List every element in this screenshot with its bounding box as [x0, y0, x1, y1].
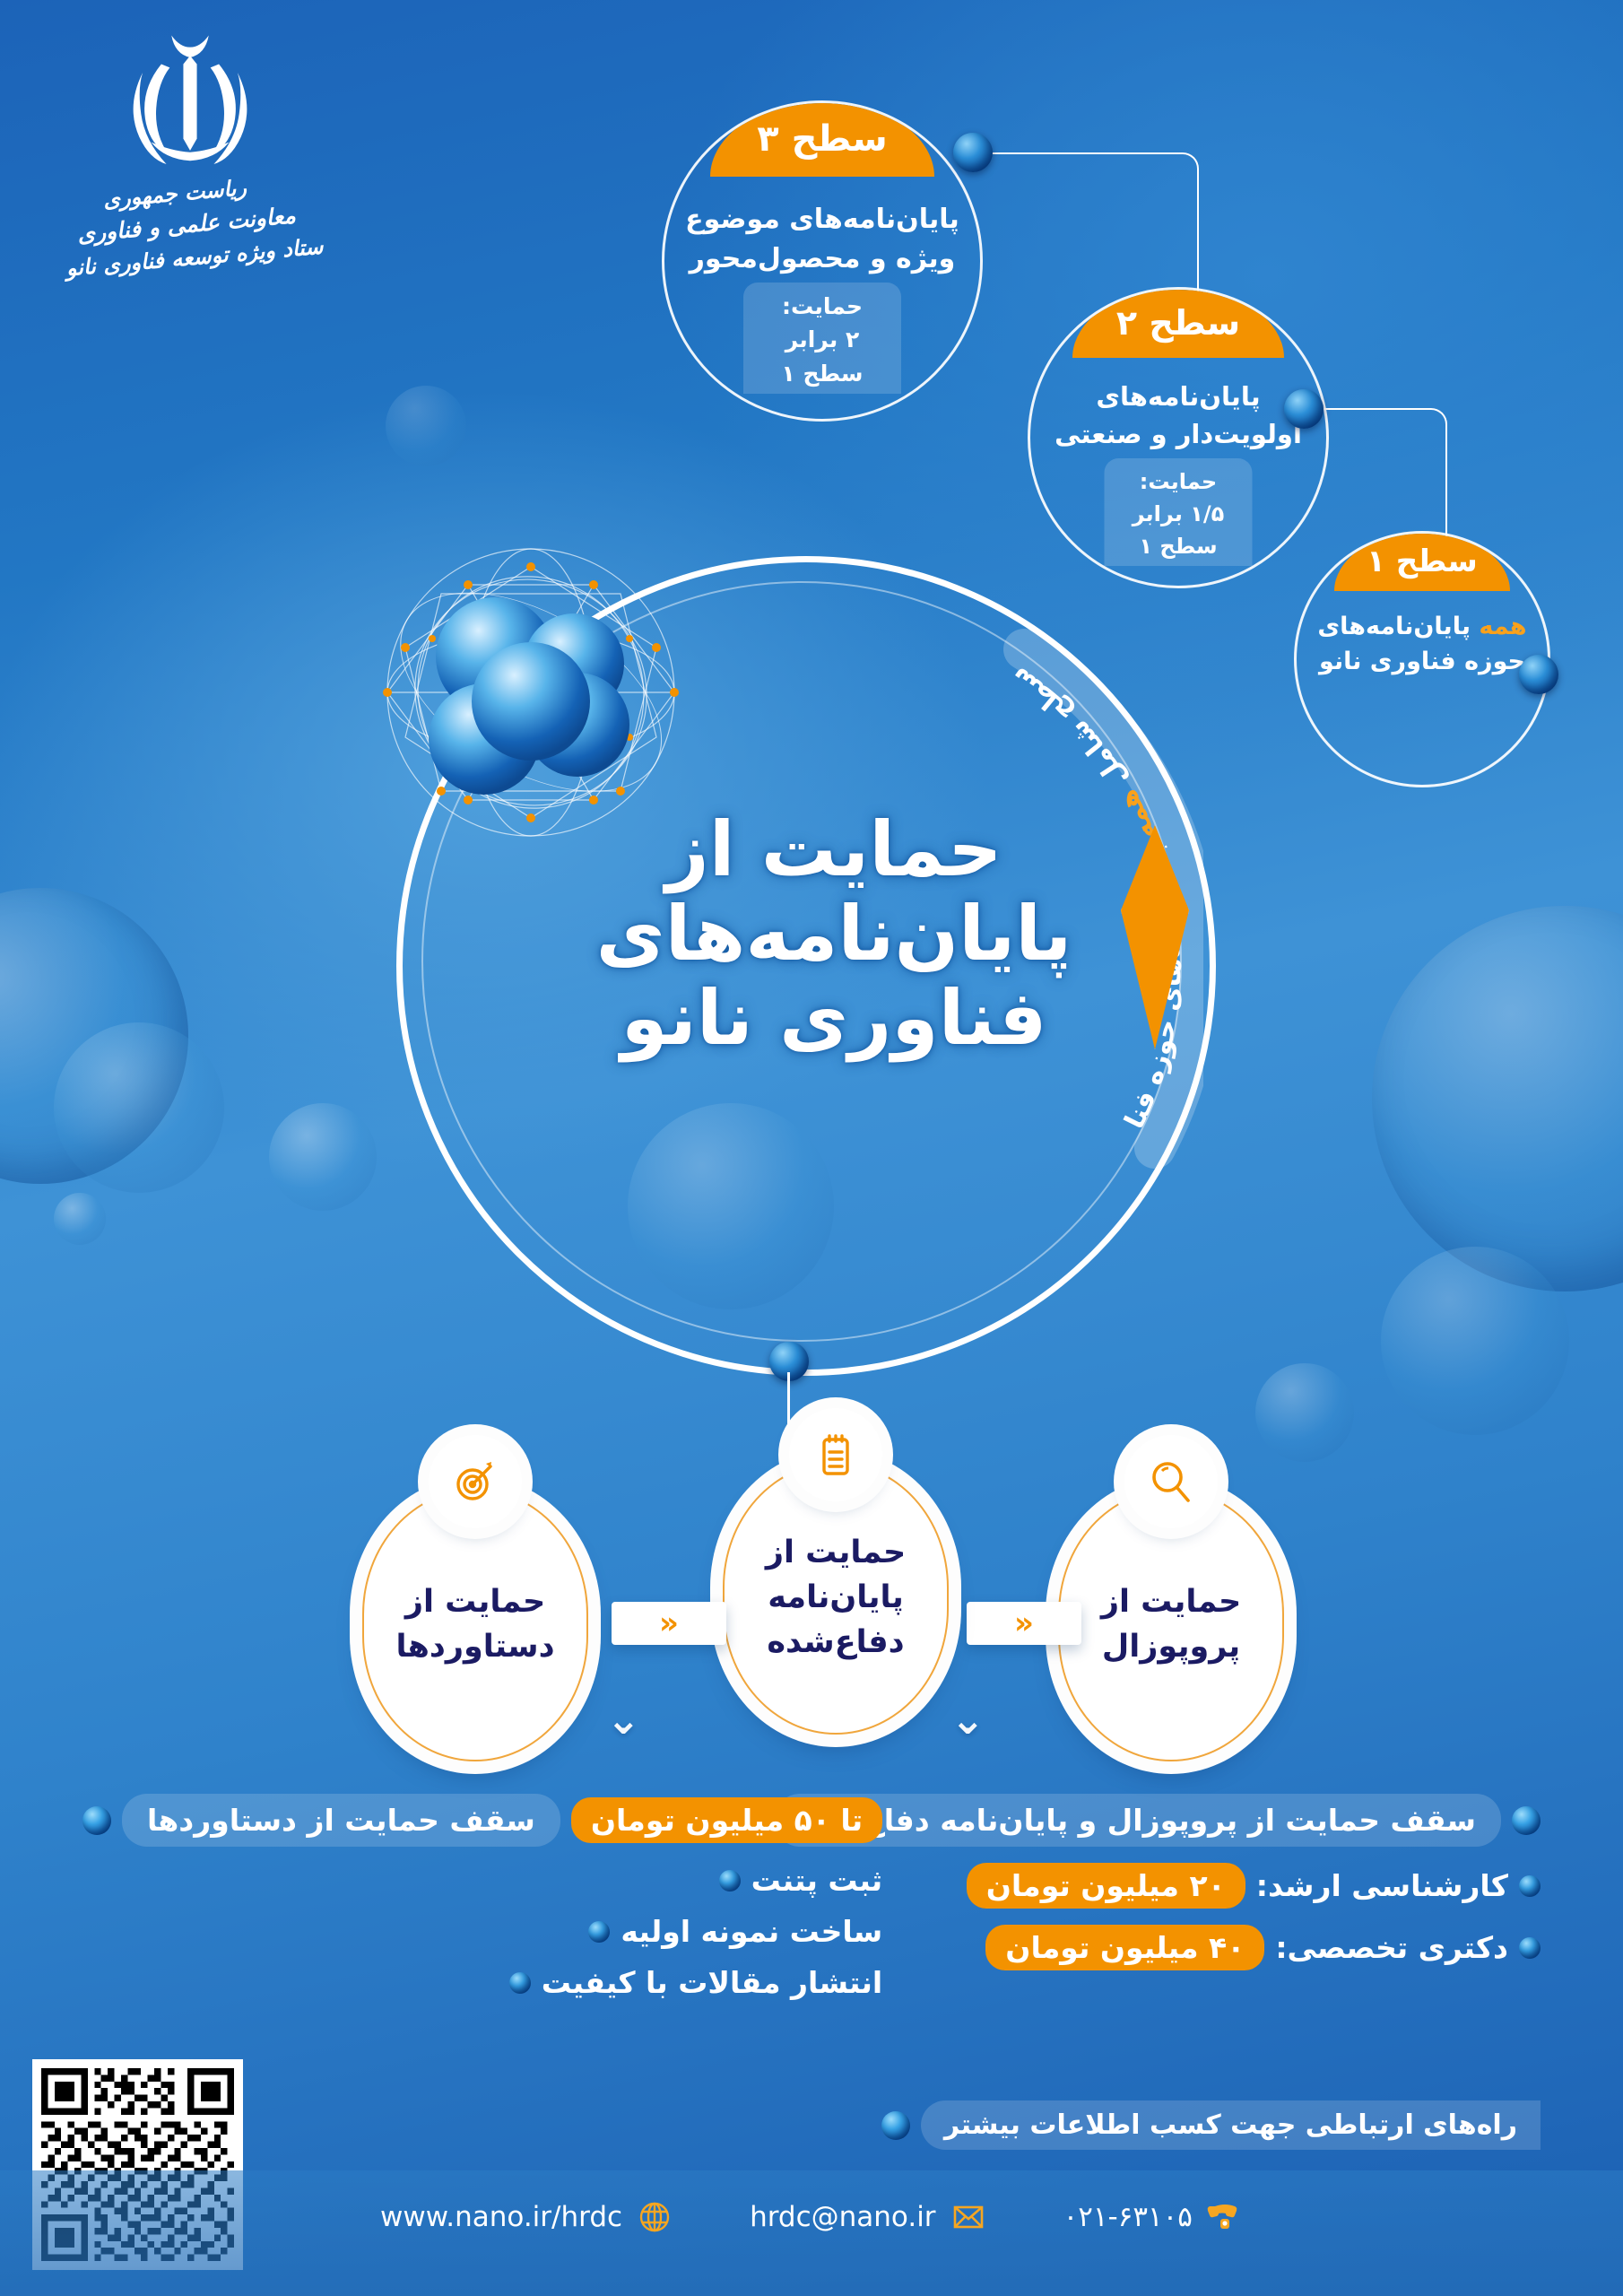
- bullet-icon: [881, 2111, 910, 2140]
- level-2-description: پایان‌نامه‌های اولویت‌دار و صنعتی: [1048, 378, 1308, 453]
- card-proposal-line2: پروپوزال: [1101, 1625, 1241, 1670]
- card-thesis-label: حمایت از پایان‌نامه دفاع‌شده: [751, 1531, 920, 1665]
- card-support-defended-thesis[interactable]: حمایت از پایان‌نامه دفاع‌شده: [723, 1462, 949, 1735]
- level-1-line2: حوزه فناوری نانو: [1312, 644, 1532, 679]
- level-2-line1: پایان‌نامه‌های: [1048, 378, 1308, 415]
- card-results-line1: حمایت از: [395, 1580, 554, 1625]
- info-left-heading-text: سقف حمایت از دستاوردها: [122, 1794, 560, 1847]
- level-3-support: حمایت: ۲ برابر سطح ۱: [743, 283, 901, 395]
- level-1-line1-rest: پایان‌نامه‌های: [1317, 613, 1479, 640]
- bullet-icon: [1519, 1875, 1541, 1897]
- info-right-row-pill: ۴۰ میلیون تومان: [985, 1925, 1264, 1970]
- level-3-circle: سطح ۳ پایان‌نامه‌های موضوع ویژه و محصول‌…: [662, 100, 983, 422]
- chevron-down-icon: ⌄: [950, 1695, 985, 1744]
- card-results-line2: دستاوردها: [395, 1625, 554, 1670]
- contact-phone-text: ۰۲۱-۶۳۱۰۵: [1063, 2201, 1193, 2233]
- contact-email[interactable]: hrdc@nano.ir: [750, 2199, 986, 2235]
- bullet-icon: [1512, 1806, 1541, 1835]
- info-right-row: کارشناسی ارشد: ۲۰ میلیون تومان: [775, 1863, 1541, 1909]
- background-bubble: [0, 888, 188, 1184]
- card-proposal-line1: حمایت از: [1101, 1580, 1241, 1625]
- bullet-icon: [1519, 1937, 1541, 1959]
- level-3-node-icon: [953, 133, 993, 172]
- title-line-3: فناوری نانو: [538, 976, 1130, 1060]
- target-icon: [429, 1435, 522, 1528]
- info-left-row-label: ثبت پتنت: [751, 1863, 883, 1898]
- card-results-label: حمایت از دستاوردها: [381, 1580, 568, 1669]
- background-bubble: [386, 386, 466, 466]
- card-thesis-line1: حمایت از: [766, 1531, 906, 1576]
- level-2-line2: اولویت‌دار و صنعتی: [1048, 415, 1308, 453]
- level-1-line1: همه پایان‌نامه‌های: [1312, 609, 1532, 644]
- footer-heading: راه‌های ارتباطی جهت کسب اطلاعات بیشتر: [881, 2100, 1541, 2150]
- bullet-icon: [82, 1806, 111, 1835]
- background-bubble: [1255, 1363, 1354, 1462]
- footer-contacts: www.nano.ir/hrdc hrdc@nano.ir ۰۲۱-۶۳۱۰۵: [0, 2199, 1623, 2235]
- chevron-left-icon: «: [659, 1605, 679, 1641]
- card-support-proposal[interactable]: حمایت از پروپوزال: [1058, 1489, 1284, 1761]
- connector-bar-thesis-results: «: [612, 1602, 726, 1645]
- card-proposal-label: حمایت از پروپوزال: [1087, 1580, 1255, 1669]
- info-left-row: ساخت نمونه اولیه: [82, 1914, 882, 1949]
- level-3-support-label: حمایت:: [782, 293, 863, 319]
- organization-logo: ریاست جمهوری معاونت علمی و فناوری ستاد و…: [56, 27, 325, 270]
- contact-website[interactable]: www.nano.ir/hrdc: [380, 2199, 673, 2235]
- level-1-highlight: همه: [1479, 613, 1526, 640]
- level-3-support-value: ۲ برابر سطح ۱: [767, 323, 878, 390]
- connector-bar-proposal-thesis: «: [967, 1602, 1081, 1645]
- info-left-heading-pill: تا ۵۰ میلیون تومان: [571, 1797, 882, 1843]
- info-right-heading-text: سقف حمایت از پروپوزال و پایان‌نامه دفاع‌…: [775, 1794, 1501, 1847]
- footer-heading-text: راه‌های ارتباطی جهت کسب اطلاعات بیشتر: [921, 2100, 1541, 2150]
- contact-website-text: www.nano.ir/hrdc: [380, 2201, 622, 2233]
- title-line-1: حمایت از: [538, 807, 1130, 891]
- background-bubble: [1372, 906, 1623, 1291]
- envelope-icon: [950, 2199, 986, 2235]
- level-1-circle: سطح ۱ همه پایان‌نامه‌های حوزه فناوری نان…: [1294, 531, 1550, 787]
- iran-emblem-icon: [105, 27, 275, 179]
- level-3-description: پایان‌نامه‌های موضوع ویژه و محصول‌محور: [683, 200, 961, 278]
- magnifier-icon: [1124, 1435, 1218, 1528]
- title-line-2: پایان‌نامه‌های: [538, 891, 1130, 976]
- level-1-description: همه پایان‌نامه‌های حوزه فناوری نانو: [1312, 609, 1532, 679]
- info-left-row-label: انتشار مقالات با کیفیت: [542, 1965, 883, 2000]
- chevron-left-icon: «: [1014, 1605, 1034, 1641]
- info-right-row: دکتری تخصصی: ۴۰ میلیون تومان: [775, 1925, 1541, 1970]
- clipboard-icon: [789, 1408, 882, 1501]
- phone-icon: [1207, 2199, 1243, 2235]
- info-right-heading: سقف حمایت از پروپوزال و پایان‌نامه دفاع‌…: [775, 1794, 1541, 1847]
- info-right-row-label: کارشناسی ارشد:: [1256, 1868, 1508, 1903]
- info-left-row: انتشار مقالات با کیفیت: [82, 1965, 882, 2000]
- bullet-icon: [719, 1870, 741, 1892]
- level-2-support: حمایت: ۱/۵ برابر سطح ۱: [1105, 458, 1253, 566]
- poster-canvas: ریاست جمهوری معاونت علمی و فناوری ستاد و…: [0, 0, 1623, 2296]
- bullet-icon: [588, 1921, 610, 1943]
- chevron-down-icon: ⌄: [606, 1695, 641, 1744]
- globe-icon: [637, 2199, 673, 2235]
- info-block-proposal-ceiling: سقف حمایت از پروپوزال و پایان‌نامه دفاع‌…: [775, 1794, 1541, 1970]
- level-1-node-icon: [1519, 655, 1558, 694]
- level-3-line2: ویژه و محصول‌محور: [683, 239, 961, 279]
- card-thesis-line3: دفاع‌شده: [766, 1621, 906, 1665]
- info-left-row-label: ساخت نمونه اولیه: [621, 1914, 882, 1949]
- poster-title: حمایت از پایان‌نامه‌های فناوری نانو: [538, 807, 1130, 1060]
- level-2-support-value: ۱/۵ برابر سطح ۱: [1128, 498, 1229, 562]
- connector-level3-to-level2: [973, 152, 1199, 293]
- level-3-line1: پایان‌نامه‌های موضوع: [683, 200, 961, 239]
- bullet-icon: [509, 1972, 531, 1994]
- info-left-heading: سقف حمایت از دستاوردها تا ۵۰ میلیون توما…: [82, 1794, 882, 1847]
- info-right-row-pill: ۲۰ میلیون تومان: [967, 1863, 1245, 1909]
- level-2-support-label: حمایت:: [1140, 469, 1217, 494]
- background-bubble: [269, 1103, 377, 1211]
- info-block-achievements-ceiling: سقف حمایت از دستاوردها تا ۵۰ میلیون توما…: [82, 1794, 882, 2000]
- contact-email-text: hrdc@nano.ir: [750, 2201, 936, 2233]
- contact-phone[interactable]: ۰۲۱-۶۳۱۰۵: [1063, 2199, 1243, 2235]
- info-left-row: ثبت پتنت: [82, 1863, 882, 1898]
- info-right-row-label: دکتری تخصصی:: [1275, 1930, 1508, 1965]
- card-thesis-line2: پایان‌نامه: [766, 1576, 906, 1621]
- level-2-circle: سطح ۲ پایان‌نامه‌های اولویت‌دار و صنعتی …: [1028, 287, 1329, 588]
- background-bubble: [54, 1193, 106, 1245]
- card-support-achievements[interactable]: حمایت از دستاوردها: [362, 1489, 588, 1761]
- background-bubble: [54, 1022, 224, 1193]
- background-bubble: [1381, 1247, 1569, 1435]
- level-2-node-icon: [1284, 389, 1324, 429]
